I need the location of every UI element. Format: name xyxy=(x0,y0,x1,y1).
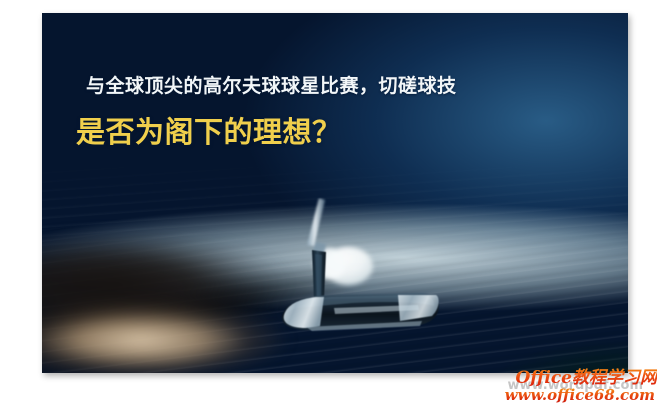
headline-block: 与全球顶尖的高尔夫球球星比赛，切磋球技 是否为阁下的理想？ xyxy=(42,71,628,151)
golf-putter-icon xyxy=(272,198,472,343)
slide-image: 与全球顶尖的高尔夫球球星比赛，切磋球技 是否为阁下的理想？ xyxy=(42,13,628,373)
headline-line-2: 是否为阁下的理想？ xyxy=(76,109,628,151)
watermark-brand-text: Office教程学习网 xyxy=(516,363,658,388)
watermark: www.wordpdf.com Office教程学习网 www.office68… xyxy=(486,367,661,407)
watermark-url-text: www.office68.com xyxy=(505,386,655,404)
screenshot-canvas: 与全球顶尖的高尔夫球球星比赛，切磋球技 是否为阁下的理想？ www.wordpd… xyxy=(0,0,667,409)
headline-line-1: 与全球顶尖的高尔夫球球星比赛，切磋球技 xyxy=(86,71,628,98)
